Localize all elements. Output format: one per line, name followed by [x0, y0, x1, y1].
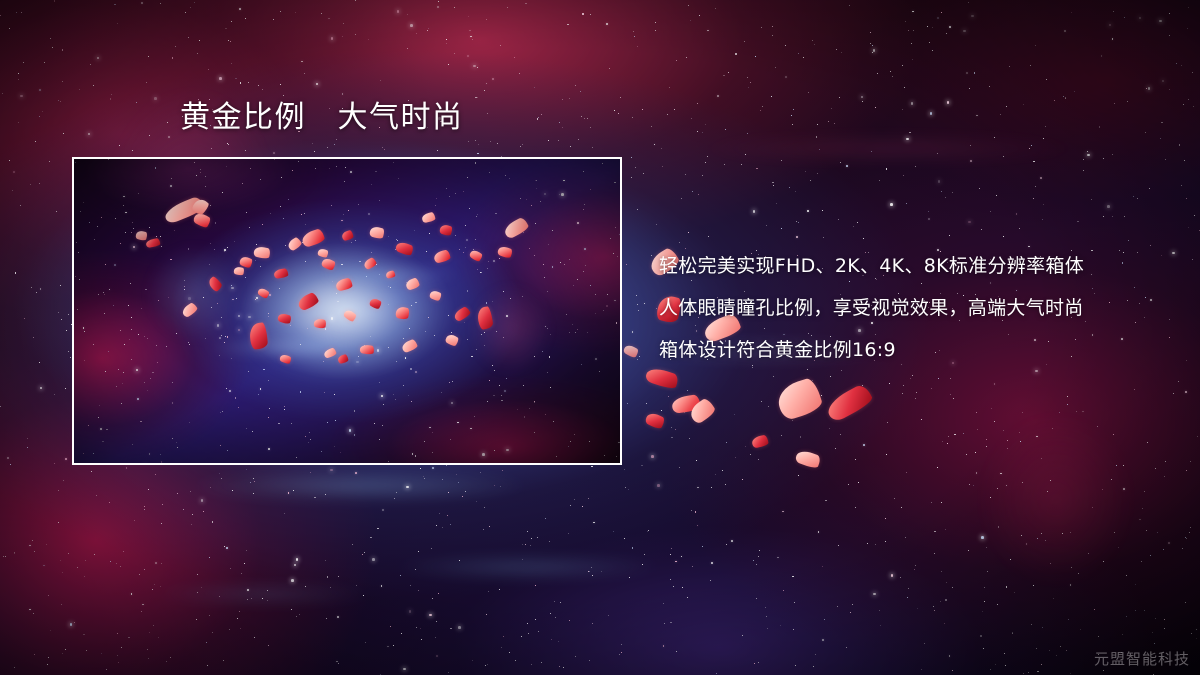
page-title: 黄金比例 大气时尚 [180, 101, 464, 135]
body-line-2: 人体眼睛瞳孔比例，享受视觉效果，高端大气时尚 [659, 298, 1179, 320]
petal [644, 411, 666, 431]
body-text-block: 轻松完美实现FHD、2K、4K、8K标准分辨率箱体 人体眼睛瞳孔比例，享受视觉效… [659, 256, 1179, 362]
watermark-label: 元盟智能科技 [1094, 648, 1190, 669]
framed-vignette [74, 159, 620, 463]
petal [622, 343, 639, 359]
petal [794, 448, 821, 469]
body-line-3: 箱体设计符合黄金比例16:9 [659, 340, 1179, 362]
body-line-1: 轻松完美实现FHD、2K、4K、8K标准分辨率箱体 [659, 256, 1179, 278]
framed-image [72, 157, 622, 465]
petal [774, 376, 824, 421]
petal [751, 434, 769, 448]
petal [824, 382, 875, 423]
framed-image-content [74, 159, 620, 463]
petal [644, 365, 679, 390]
presentation-slide: 黄金比例 大气时尚 轻松完美实现FHD、2K、4K、8K标准分辨率箱体 人体眼睛… [0, 0, 1200, 675]
